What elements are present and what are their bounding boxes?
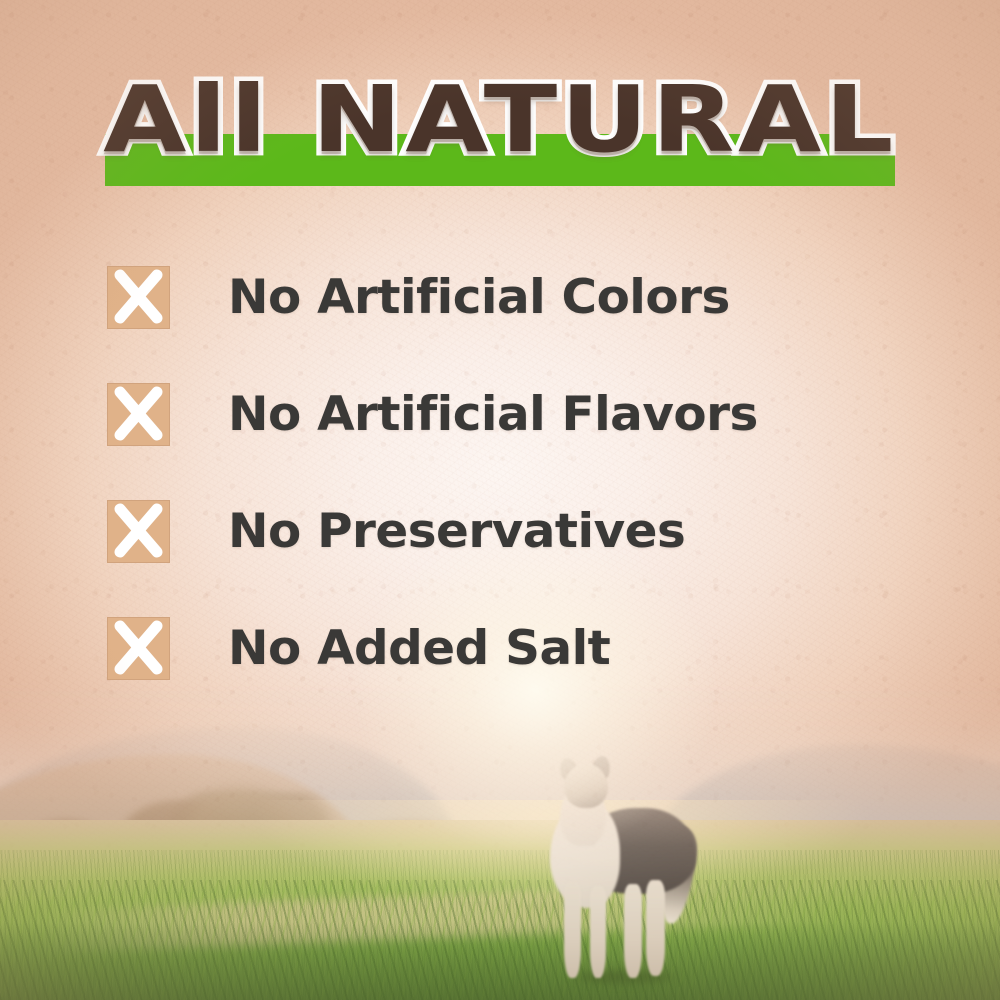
dog-leg-front-right — [590, 886, 606, 978]
list-item: No Added Salt — [107, 617, 907, 680]
headline-banner: All NATURAL — [0, 70, 1000, 200]
list-item: No Artificial Flavors — [107, 383, 907, 446]
claims-list: No Artificial Colors No Artificial Flavo… — [107, 266, 907, 680]
x-mark-icon — [107, 500, 170, 563]
x-mark-icon — [107, 266, 170, 329]
all-natural-product-poster: All NATURAL No Artificial Colors No Arti… — [0, 0, 1000, 1000]
sunlight-haze — [0, 800, 1000, 1000]
dog-head — [564, 764, 608, 808]
claim-label: No Preservatives — [228, 500, 685, 563]
claim-label: No Artificial Flavors — [228, 383, 758, 446]
claim-label: No Artificial Colors — [228, 266, 730, 329]
claim-label: No Added Salt — [228, 617, 610, 680]
list-item: No Preservatives — [107, 500, 907, 563]
dog-leg-back-right — [646, 880, 665, 976]
x-mark-icon — [107, 383, 170, 446]
list-item: No Artificial Colors — [107, 266, 907, 329]
page-title: All NATURAL — [0, 70, 1000, 170]
dog-leg-back-left — [624, 884, 642, 978]
meadow-photo — [0, 680, 1000, 1000]
dog-illustration — [520, 760, 710, 988]
x-mark-icon — [107, 617, 170, 680]
dog-leg-front-left — [564, 882, 581, 978]
